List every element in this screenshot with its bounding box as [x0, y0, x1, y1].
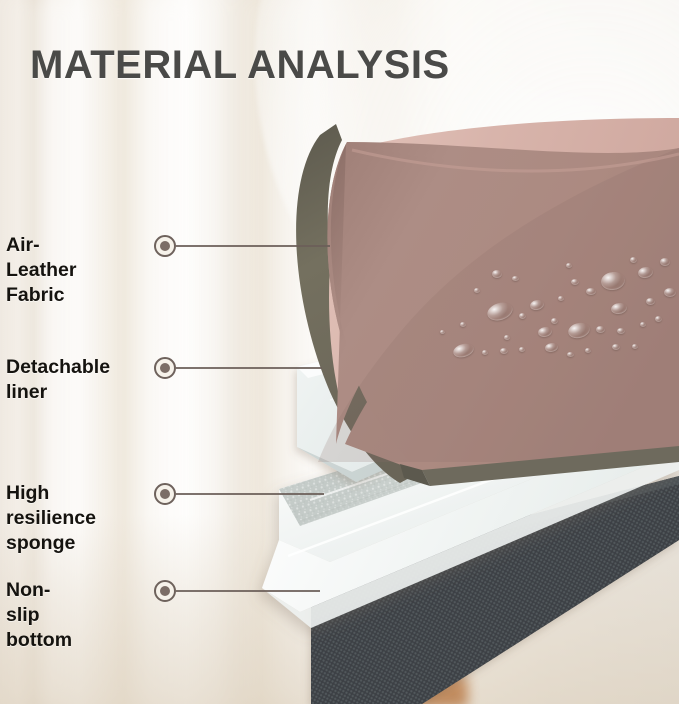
water-droplet — [585, 348, 591, 353]
water-droplet — [500, 348, 508, 354]
leader-line-high-resilience-sponge — [176, 493, 324, 495]
leader-line-non-slip-bottom — [176, 590, 320, 592]
water-droplet — [482, 350, 488, 355]
water-droplet — [474, 288, 480, 293]
water-droplet — [504, 335, 510, 340]
water-droplet — [664, 288, 676, 297]
water-droplet — [630, 257, 637, 263]
callout-label-detachable-liner: Detachable liner — [6, 355, 110, 405]
water-droplet — [567, 352, 574, 357]
water-droplet — [655, 316, 662, 322]
callout-marker-air-leather-fabric[interactable] — [154, 235, 176, 257]
water-droplet — [617, 328, 625, 334]
water-droplet — [571, 279, 579, 285]
layer-stack-illustration — [0, 0, 679, 704]
water-droplet — [519, 347, 525, 352]
leader-line-detachable-liner — [176, 367, 322, 369]
callout-label-high-resilience-sponge: High resilience sponge — [6, 481, 96, 556]
water-droplet — [551, 318, 558, 324]
page-title: MATERIAL ANALYSIS — [30, 43, 450, 88]
water-droplet — [632, 344, 638, 349]
callout-marker-detachable-liner[interactable] — [154, 357, 176, 379]
water-droplet — [566, 263, 572, 268]
water-droplet — [519, 313, 526, 319]
water-droplet — [640, 322, 646, 327]
layer-air-leather-fabric — [296, 110, 679, 490]
callout-label-non-slip-bottom: Non-slip bottom — [6, 578, 72, 653]
water-droplet — [646, 298, 655, 305]
water-droplet — [596, 326, 605, 333]
water-droplet — [660, 258, 670, 266]
water-droplet — [512, 276, 519, 281]
callout-marker-high-resilience-sponge[interactable] — [154, 483, 176, 505]
material-analysis-infographic: MATERIAL ANALYSIS Air-Leather FabricDeta… — [0, 0, 679, 704]
water-droplet — [612, 344, 620, 350]
water-droplet — [492, 270, 502, 278]
water-droplet — [460, 322, 466, 327]
water-droplet — [586, 288, 596, 295]
water-droplet — [558, 296, 564, 301]
callout-label-air-leather-fabric: Air-Leather Fabric — [6, 233, 76, 308]
water-droplet — [440, 330, 445, 334]
callout-marker-non-slip-bottom[interactable] — [154, 580, 176, 602]
leader-line-air-leather-fabric — [176, 245, 330, 247]
